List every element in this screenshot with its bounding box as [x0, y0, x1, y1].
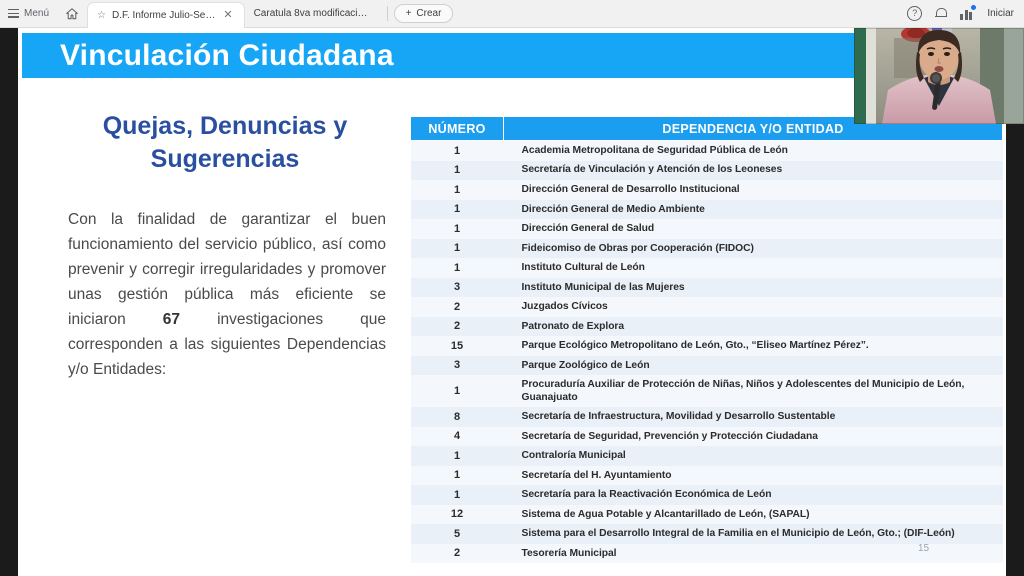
- cell-numero: 1: [411, 446, 504, 466]
- table-row: 5Sistema para el Desarrollo Integral de …: [411, 524, 1003, 544]
- cell-dependencia: Patronato de Explora: [504, 317, 1003, 337]
- table-row: 15 Parque Ecológico Metropolitano de Leó…: [411, 336, 1003, 356]
- cell-dependencia: Instituto Municipal de las Mujeres: [504, 278, 1003, 298]
- table-row: 1Dirección General de Salud: [411, 219, 1003, 239]
- cell-numero: 1: [411, 161, 504, 181]
- table-row: 1 Fideicomiso de Obras por Cooperación (…: [411, 239, 1003, 259]
- table-row: 1Dirección General de Medio Ambiente: [411, 200, 1003, 220]
- slide-title-banner: Vinculación Ciudadana: [22, 33, 980, 78]
- cell-numero: 1: [411, 375, 504, 407]
- table-row: 2Patronato de Explora: [411, 317, 1003, 337]
- table-row: 1Procuraduría Auxiliar de Protección de …: [411, 375, 1003, 407]
- cell-numero: 3: [411, 356, 504, 376]
- browser-toolbar: Menú ☆ D.F. Informe Julio-Se… ✕ Caratula…: [0, 0, 1024, 28]
- create-button-label: Crear: [416, 8, 441, 19]
- star-icon: ☆: [97, 10, 106, 21]
- cell-dependencia: Secretaría de Seguridad, Prevención y Pr…: [504, 427, 1003, 447]
- table-row: 1Instituto Cultural de León: [411, 258, 1003, 278]
- hamburger-menu-icon: [8, 9, 19, 18]
- notifications-bell-icon[interactable]: [935, 7, 947, 20]
- cell-dependencia: Secretaría para la Reactivación Económic…: [504, 485, 1003, 505]
- column-header-numero: NÚMERO: [411, 117, 504, 141]
- close-tab-icon[interactable]: ✕: [221, 10, 234, 21]
- cell-dependencia: Parque Ecológico Metropolitano de León, …: [504, 336, 1003, 356]
- cell-dependencia: Juzgados Cívicos: [504, 297, 1003, 317]
- table-row: 12Sistema de Agua Potable y Alcantarilla…: [411, 505, 1003, 525]
- cell-numero: 1: [411, 485, 504, 505]
- cell-dependencia: Contraloría Municipal: [504, 446, 1003, 466]
- cell-numero: 1: [411, 239, 504, 259]
- cell-dependencia: Sistema para el Desarrollo Integral de l…: [504, 524, 1003, 544]
- dependencies-table: NÚMERO DEPENDENCIA Y/O ENTIDAD 1Academia…: [410, 116, 1003, 563]
- toolbar-right-group: ? Iniciar: [907, 6, 1024, 21]
- slide-left-column: Quejas, Denuncias y Sugerencias Con la f…: [50, 110, 400, 398]
- slide-page-number: 15: [918, 543, 929, 554]
- cell-numero: 4: [411, 427, 504, 447]
- table-row: 3Parque Zoológico de León: [411, 356, 1003, 376]
- table-row: 1Secretaría del H. Ayuntamiento: [411, 466, 1003, 486]
- cell-dependencia: Secretaría de Infraestructura, Movilidad…: [504, 407, 1003, 427]
- cell-numero: 1: [411, 258, 504, 278]
- cell-dependencia: Dirección General de Medio Ambiente: [504, 200, 1003, 220]
- browser-tab-title: D.F. Informe Julio-Se…: [112, 10, 215, 21]
- table-row: 4Secretaría de Seguridad, Prevención y P…: [411, 427, 1003, 447]
- home-button[interactable]: [57, 0, 87, 27]
- browser-tab-title-2: Caratula 8va modificación …: [254, 8, 372, 19]
- table-row: 8Secretaría de Infraestructura, Movilida…: [411, 407, 1003, 427]
- browser-tab-active[interactable]: ☆ D.F. Informe Julio-Se… ✕: [87, 2, 245, 28]
- create-button[interactable]: + Crear: [394, 4, 454, 23]
- sign-in-label[interactable]: Iniciar: [987, 8, 1014, 19]
- cell-dependencia: Secretaría de Vinculación y Atención de …: [504, 161, 1003, 181]
- body-paragraph: Con la finalidad de garantizar el buen f…: [50, 207, 400, 383]
- cell-dependencia: Dirección General de Desarrollo Instituc…: [504, 180, 1003, 200]
- cell-numero: 5: [411, 524, 504, 544]
- investigations-count: 67: [163, 311, 180, 328]
- table-row: 1Secretaría para la Reactivación Económi…: [411, 485, 1003, 505]
- cell-dependencia: Sistema de Agua Potable y Alcantarillado…: [504, 505, 1003, 525]
- speaker-video-frame: [854, 28, 1024, 124]
- cell-dependencia: Secretaría del H. Ayuntamiento: [504, 466, 1003, 486]
- toolbar-divider: [387, 6, 388, 21]
- cell-numero: 15: [411, 336, 504, 356]
- menu-button[interactable]: Menú: [0, 0, 57, 27]
- cell-numero: 1: [411, 219, 504, 239]
- table-row: 1Academia Metropolitana de Seguridad Púb…: [411, 141, 1003, 161]
- cell-numero: 8: [411, 407, 504, 427]
- plus-icon: +: [406, 8, 412, 19]
- dependencies-table-wrapper: NÚMERO DEPENDENCIA Y/O ENTIDAD 1Academia…: [410, 116, 1000, 563]
- cell-dependencia: Dirección General de Salud: [504, 219, 1003, 239]
- slide-title: Vinculación Ciudadana: [22, 39, 394, 73]
- cell-numero: 12: [411, 505, 504, 525]
- cell-dependencia: Instituto Cultural de León: [504, 258, 1003, 278]
- cell-dependencia: Parque Zoológico de León: [504, 356, 1003, 376]
- menu-button-label: Menú: [24, 8, 49, 19]
- cell-dependencia: Fideicomiso de Obras por Cooperación (FI…: [504, 239, 1003, 259]
- table-row: 1Dirección General de Desarrollo Institu…: [411, 180, 1003, 200]
- section-heading: Quejas, Denuncias y Sugerencias: [64, 110, 386, 177]
- cell-numero: 1: [411, 200, 504, 220]
- table-row: 1Secretaría de Vinculación y Atención de…: [411, 161, 1003, 181]
- cell-numero: 2: [411, 544, 504, 564]
- cell-numero: 2: [411, 297, 504, 317]
- table-row: 2Tesorería Municipal: [411, 544, 1003, 564]
- apps-chart-icon[interactable]: [960, 7, 974, 20]
- cell-dependencia: Procuraduría Auxiliar de Protección de N…: [504, 375, 1003, 407]
- cell-numero: 1: [411, 466, 504, 486]
- speaker-video-overlay[interactable]: [854, 28, 1024, 124]
- presentation-stage: Vinculación Ciudadana Quejas, Denuncias …: [0, 28, 1024, 576]
- badge-dot: [971, 5, 976, 10]
- cell-numero: 1: [411, 180, 504, 200]
- cell-numero: 1: [411, 141, 504, 161]
- help-icon[interactable]: ?: [907, 6, 922, 21]
- table-body: 1Academia Metropolitana de Seguridad Púb…: [411, 141, 1003, 564]
- table-row: 2Juzgados Cívicos: [411, 297, 1003, 317]
- home-icon: [65, 7, 79, 21]
- cell-numero: 3: [411, 278, 504, 298]
- cell-dependencia: Academia Metropolitana de Seguridad Públ…: [504, 141, 1003, 161]
- table-row: 1Contraloría Municipal: [411, 446, 1003, 466]
- cell-numero: 2: [411, 317, 504, 337]
- table-row: 3Instituto Municipal de las Mujeres: [411, 278, 1003, 298]
- browser-tab-inactive[interactable]: Caratula 8va modificación …: [245, 1, 381, 27]
